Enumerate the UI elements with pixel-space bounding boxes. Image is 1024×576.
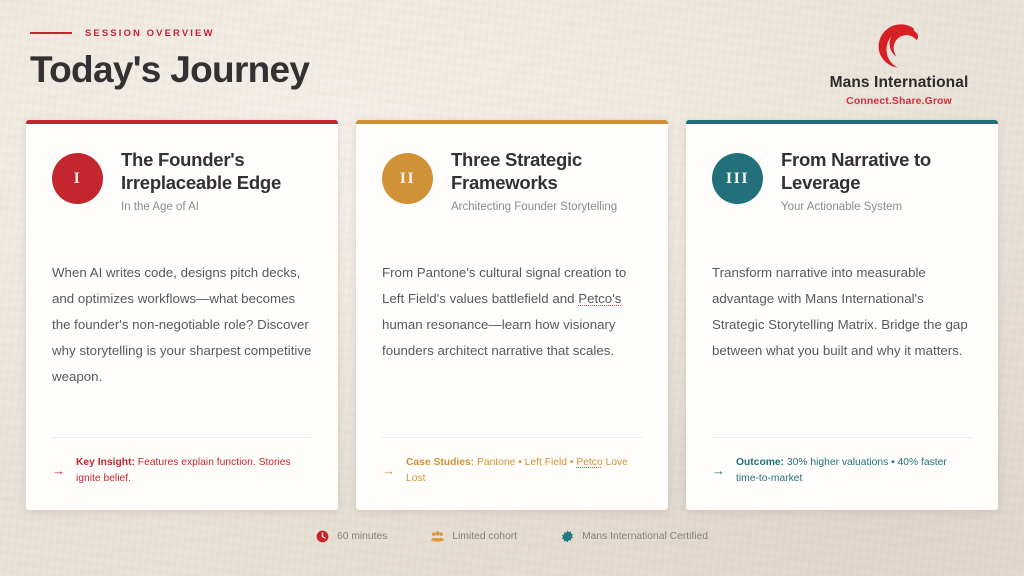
footnote-label: Key Insight: [76, 457, 135, 468]
card-row: I The Founder's Irreplaceable Edge In th… [26, 120, 998, 510]
card-title: From Narrative to Leverage [781, 149, 972, 194]
card-accent-bar [26, 120, 338, 124]
card-footnote: → Key Insight: Features explain function… [52, 455, 312, 488]
footnote-misspelled-word: Petco [576, 457, 602, 468]
card-body-text: Transform narrative into measurable adva… [712, 260, 972, 437]
footnote-label: Case Studies: [406, 457, 474, 468]
card-narrative-leverage[interactable]: III From Narrative to Leverage Your Acti… [686, 120, 998, 510]
card-body-text: When AI writes code, designs pitch decks… [52, 260, 312, 437]
card-divider [712, 437, 972, 438]
card-numeral-badge: I [52, 153, 103, 204]
card-divider [52, 437, 312, 438]
eyebrow-rule [30, 32, 72, 34]
meta-cohort-label: Limited cohort [452, 531, 517, 542]
meta-duration: 60 minutes [316, 530, 387, 543]
card-body-misspelled-word: Petco's [578, 291, 621, 306]
card-numeral-badge: III [712, 153, 763, 204]
people-group-icon [431, 530, 444, 543]
card-body-part2: human resonance—learn how visionary foun… [382, 317, 616, 358]
page-title: Today's Journey [30, 51, 730, 90]
card-body-text: From Pantone's cultural signal creation … [382, 260, 642, 437]
card-subtitle: Architecting Founder Storytelling [451, 200, 642, 215]
footer-meta-bar: 60 minutes Limited cohort Mans Internati… [0, 530, 1024, 543]
card-title: The Founder's Irreplaceable Edge [121, 149, 312, 194]
slide-header: Session Overview Today's Journey [30, 26, 730, 90]
card-divider [382, 437, 642, 438]
brand-name: Mans International [804, 74, 994, 92]
card-title: Three Strategic Frameworks [451, 149, 642, 194]
card-header: III From Narrative to Leverage Your Acti… [712, 120, 972, 215]
eyebrow-label: Session Overview [85, 28, 215, 39]
arrow-right-icon: → [712, 462, 725, 480]
arrow-right-icon: → [52, 462, 65, 480]
meta-duration-label: 60 minutes [337, 531, 387, 542]
card-accent-bar [686, 120, 998, 124]
card-footnote: → Case Studies: Pantone • Left Field • P… [382, 455, 642, 488]
footnote-part1: Pantone • Left Field • [474, 457, 576, 468]
card-subtitle: Your Actionable System [781, 200, 972, 215]
meta-certification-label: Mans International Certified [582, 531, 708, 542]
card-header: I The Founder's Irreplaceable Edge In th… [52, 120, 312, 215]
meta-certification: Mans International Certified [561, 530, 708, 543]
card-numeral-badge: II [382, 153, 433, 204]
card-header: II Three Strategic Frameworks Architecti… [382, 120, 642, 215]
meta-cohort: Limited cohort [431, 530, 517, 543]
card-founder-edge[interactable]: I The Founder's Irreplaceable Edge In th… [26, 120, 338, 510]
card-strategic-frameworks[interactable]: II Three Strategic Frameworks Architecti… [356, 120, 668, 510]
eyebrow: Session Overview [30, 26, 730, 40]
crescent-swoosh-logo-icon [873, 24, 925, 70]
brand-lockup: Mans International Connect.Share.Grow [804, 24, 994, 107]
card-accent-bar [356, 120, 668, 124]
slide-canvas: Session Overview Today's Journey Mans In… [0, 0, 1024, 576]
arrow-right-icon: → [382, 462, 395, 480]
brand-tagline: Connect.Share.Grow [804, 95, 994, 107]
footnote-label: Outcome: [736, 457, 784, 468]
certified-seal-icon [561, 530, 574, 543]
card-footnote: → Outcome: 30% higher valuations • 40% f… [712, 455, 972, 488]
clock-icon [316, 530, 329, 543]
card-subtitle: In the Age of AI [121, 200, 312, 215]
